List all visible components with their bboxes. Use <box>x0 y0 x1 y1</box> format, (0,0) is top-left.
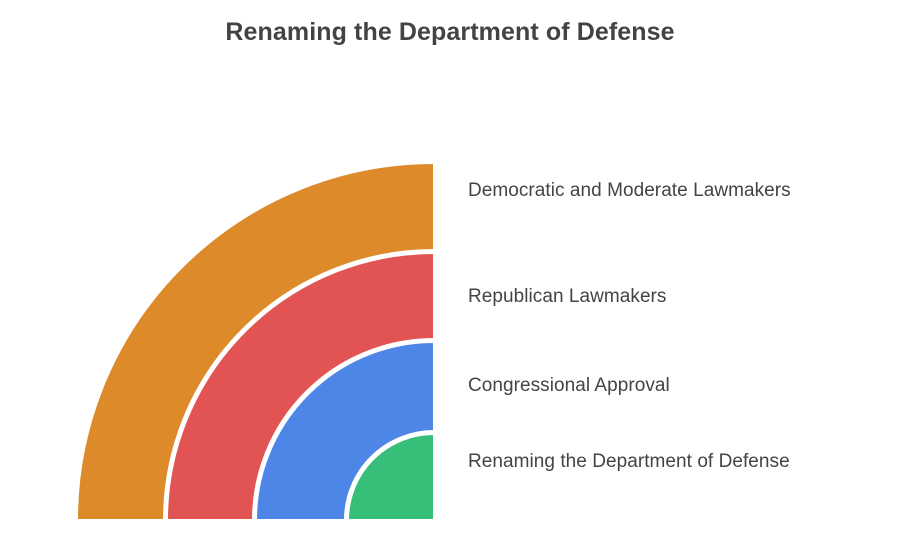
series-label-congressional-approval: Congressional Approval <box>468 372 798 399</box>
chart-page: Renaming the Department of Defense Democ… <box>0 0 900 550</box>
series-label-renaming-the-department-of-defense: Renaming the Department of Defense <box>468 448 798 475</box>
series-label-republican-lawmakers: Republican Lawmakers <box>468 283 798 310</box>
series-label-democratic-and-moderate-lawmakers: Democratic and Moderate Lawmakers <box>468 177 798 204</box>
